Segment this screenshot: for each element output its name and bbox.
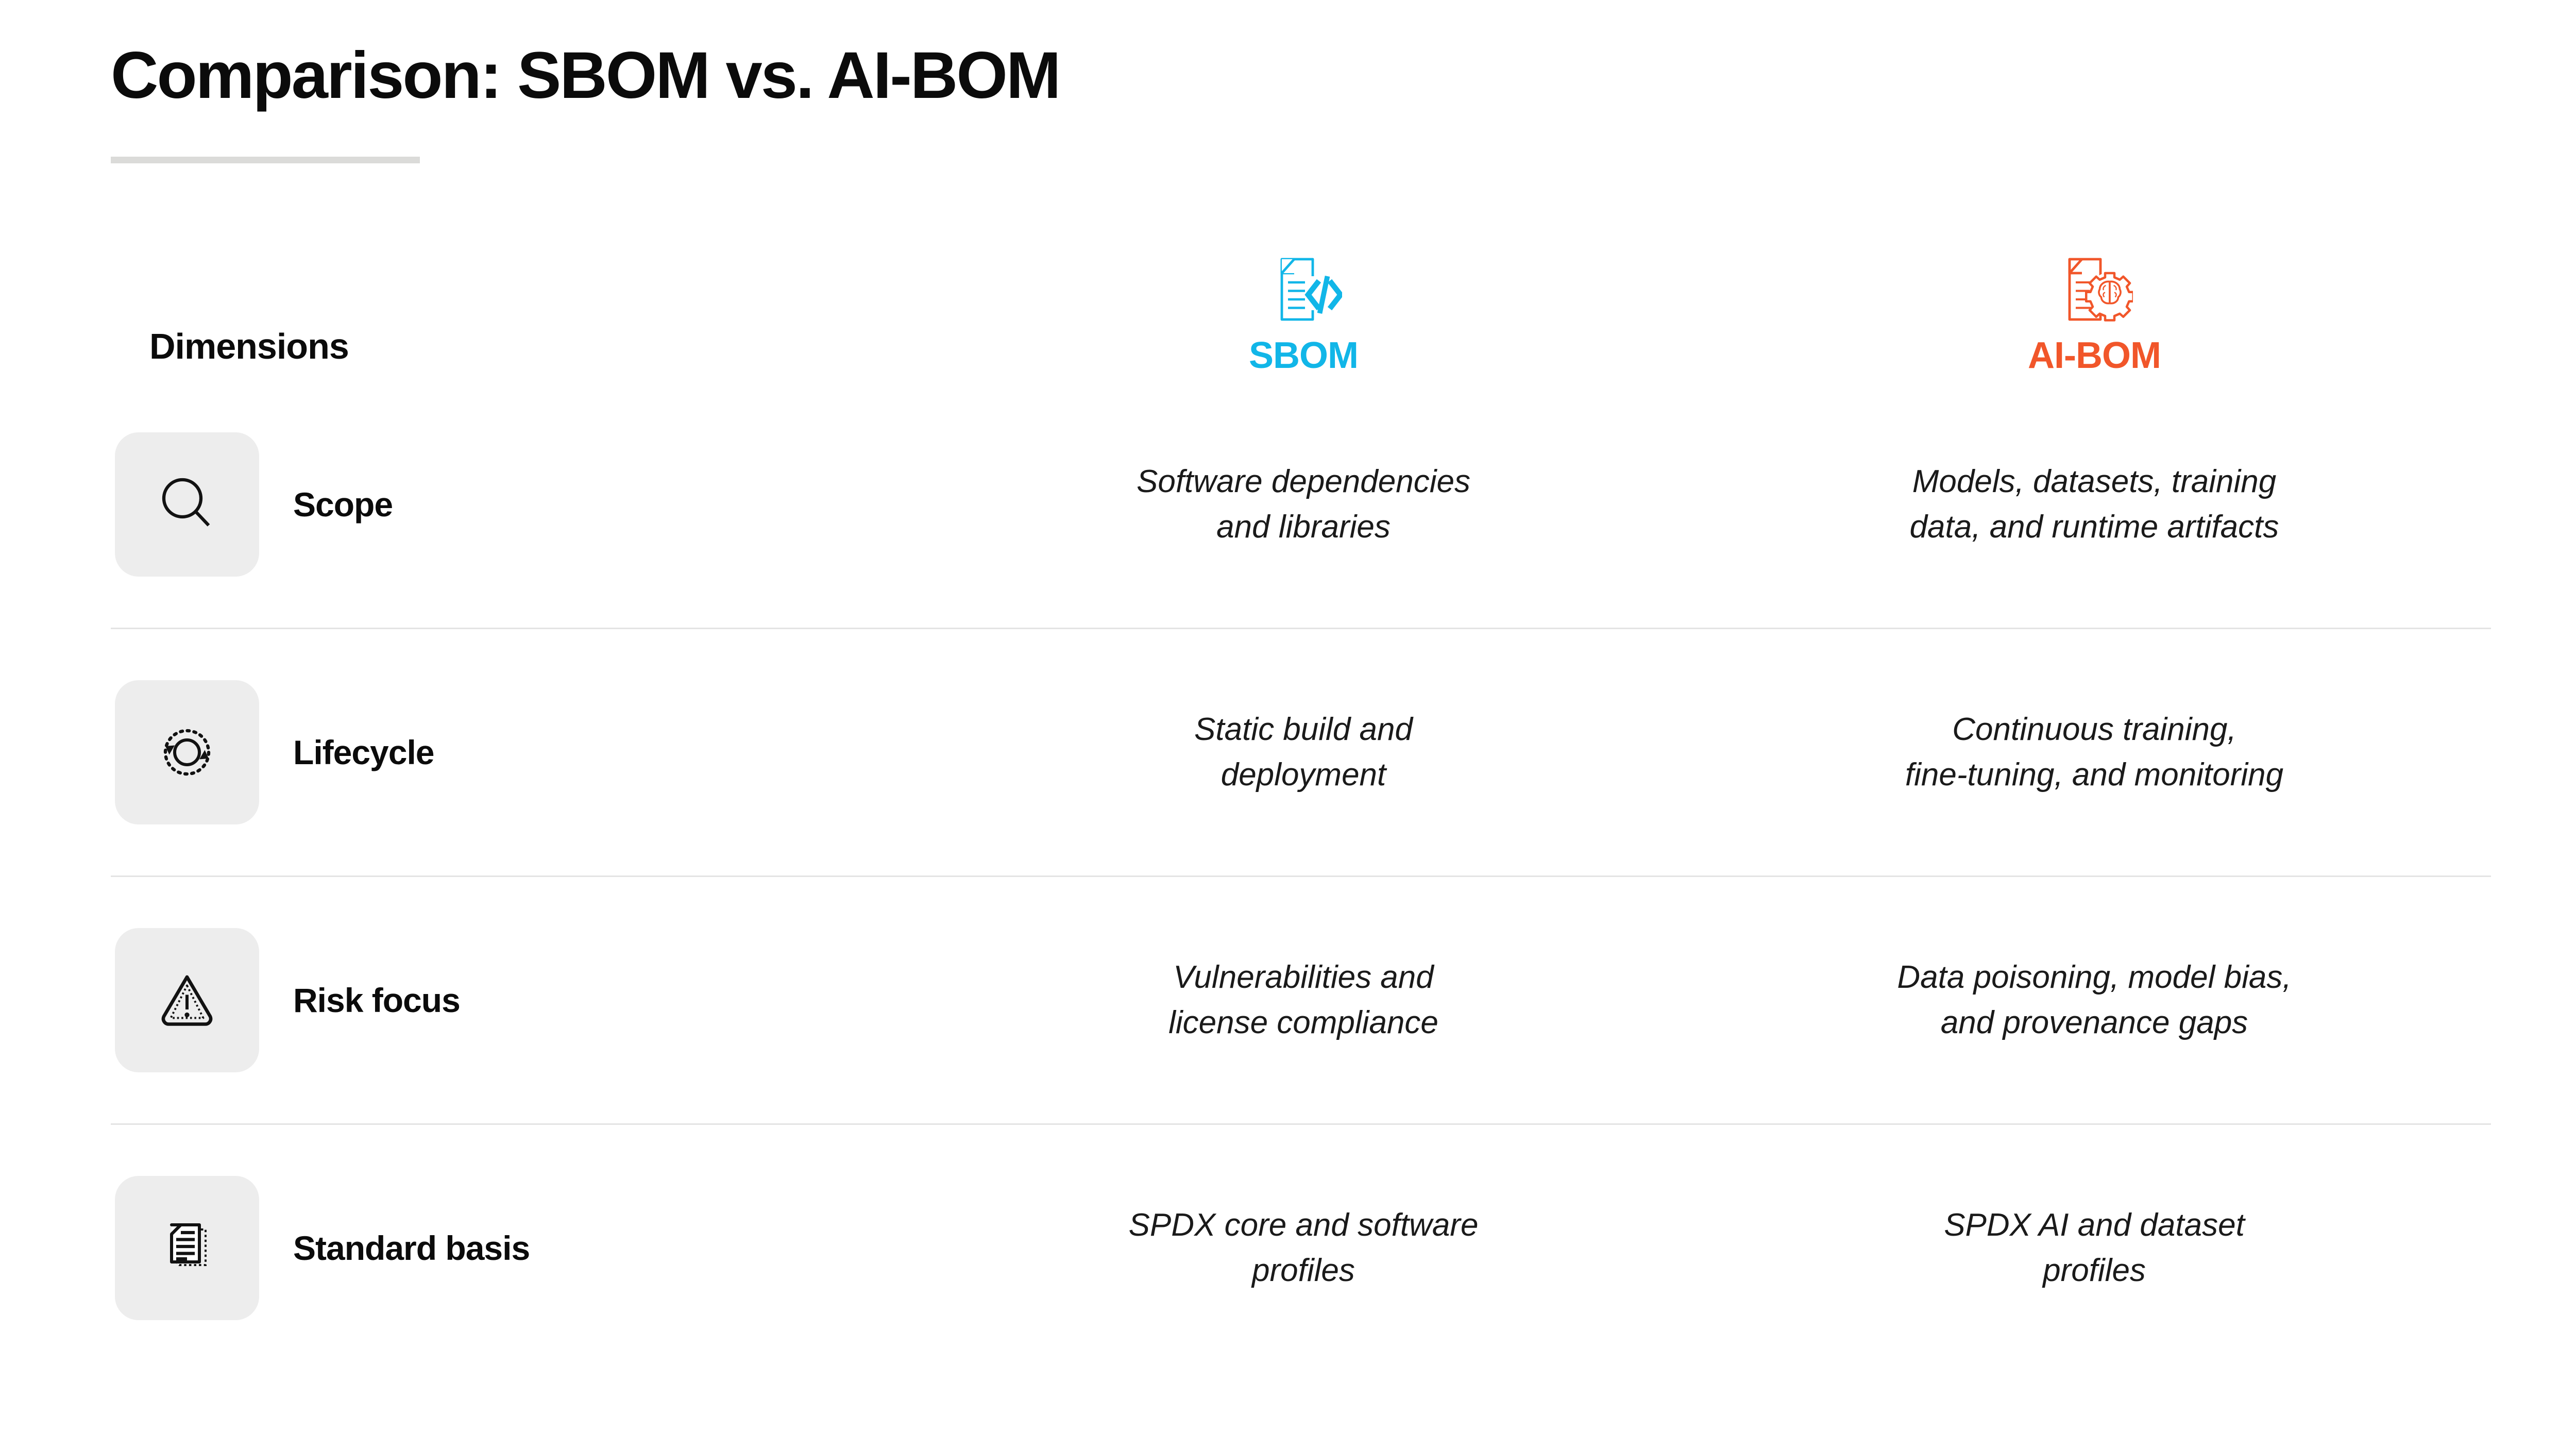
row-dimension-cell: Risk focus xyxy=(111,928,909,1072)
cell-line: Static build and xyxy=(1194,707,1413,752)
cell-line: and provenance gaps xyxy=(1897,1000,2291,1046)
row-cell-aibom: SPDX AI and dataset profiles xyxy=(1698,1203,2491,1293)
cell-text-aibom: Data poisoning, model bias, and provenan… xyxy=(1897,955,2291,1046)
column-label-aibom: AI-BOM xyxy=(2028,337,2161,374)
cell-line: profiles xyxy=(1944,1248,2245,1293)
magnifier-icon xyxy=(115,432,259,577)
cell-line: SPDX AI and dataset xyxy=(1944,1203,2245,1248)
cell-line: data, and runtime artifacts xyxy=(1910,504,2279,550)
row-cell-aibom: Data poisoning, model bias, and provenan… xyxy=(1698,955,2491,1046)
table-header-row: Dimensions SBOM xyxy=(111,216,2491,381)
cell-text-aibom: Continuous training, fine-tuning, and mo… xyxy=(1905,707,2283,798)
row-dimension-cell: Standard basis xyxy=(111,1176,909,1320)
row-label: Standard basis xyxy=(293,1228,530,1268)
title-accent-bar xyxy=(111,157,420,163)
row-dimension-cell: Scope xyxy=(111,432,909,577)
table-row: Lifecycle Static build and deployment Co… xyxy=(111,629,2491,875)
header-cell-sbom: SBOM xyxy=(909,248,1698,381)
page-title: Comparison: SBOM vs. AI-BOM xyxy=(111,41,2481,110)
cell-line: SPDX core and software xyxy=(1129,1203,1479,1248)
cell-line: Software dependencies xyxy=(1137,459,1470,504)
comparison-table: Dimensions SBOM xyxy=(111,216,2491,1371)
cell-line: license compliance xyxy=(1168,1000,1438,1046)
row-cell-sbom: Vulnerabilities and license compliance xyxy=(909,955,1698,1046)
row-dimension-cell: Lifecycle xyxy=(111,680,909,824)
row-cell-sbom: Software dependencies and libraries xyxy=(909,459,1698,550)
row-label: Lifecycle xyxy=(293,733,434,772)
document-lines-icon xyxy=(115,1176,259,1320)
cell-text-aibom: SPDX AI and dataset profiles xyxy=(1944,1203,2245,1293)
cell-line: Models, datasets, training xyxy=(1910,459,2279,504)
header-cell-dimensions: Dimensions xyxy=(111,326,909,381)
row-cell-aibom: Continuous training, fine-tuning, and mo… xyxy=(1698,707,2491,798)
column-label-sbom: SBOM xyxy=(1249,337,1358,374)
cell-line: fine-tuning, and monitoring xyxy=(1905,752,2283,798)
row-cell-sbom: Static build and deployment xyxy=(909,707,1698,798)
cell-line: deployment xyxy=(1194,752,1413,798)
cell-line: Data poisoning, model bias, xyxy=(1897,955,2291,1000)
header-cell-aibom: AI-BOM xyxy=(1698,248,2491,381)
cycle-arrows-icon xyxy=(115,680,259,824)
row-label: Scope xyxy=(293,485,393,524)
table-row: Standard basis SPDX core and software pr… xyxy=(111,1125,2491,1371)
cell-line: Continuous training, xyxy=(1905,707,2283,752)
row-cell-sbom: SPDX core and software profiles xyxy=(909,1203,1698,1293)
row-label: Risk focus xyxy=(293,981,460,1020)
cell-text-sbom: Software dependencies and libraries xyxy=(1137,459,1470,550)
document-gear-brain-icon xyxy=(2056,248,2133,326)
dimensions-label: Dimensions xyxy=(111,326,349,381)
table-row: Scope Software dependencies and librarie… xyxy=(111,381,2491,628)
document-code-icon xyxy=(1265,248,1342,326)
warning-triangle-icon xyxy=(115,928,259,1072)
cell-text-sbom: SPDX core and software profiles xyxy=(1129,1203,1479,1293)
title-block: Comparison: SBOM vs. AI-BOM xyxy=(111,41,2481,163)
row-cell-aibom: Models, datasets, training data, and run… xyxy=(1698,459,2491,550)
cell-line: and libraries xyxy=(1137,504,1470,550)
table-row: Risk focus Vulnerabilities and license c… xyxy=(111,877,2491,1123)
cell-text-sbom: Vulnerabilities and license compliance xyxy=(1168,955,1438,1046)
cell-text-aibom: Models, datasets, training data, and run… xyxy=(1910,459,2279,550)
cell-line: profiles xyxy=(1129,1248,1479,1293)
cell-text-sbom: Static build and deployment xyxy=(1194,707,1413,798)
cell-line: Vulnerabilities and xyxy=(1168,955,1438,1000)
